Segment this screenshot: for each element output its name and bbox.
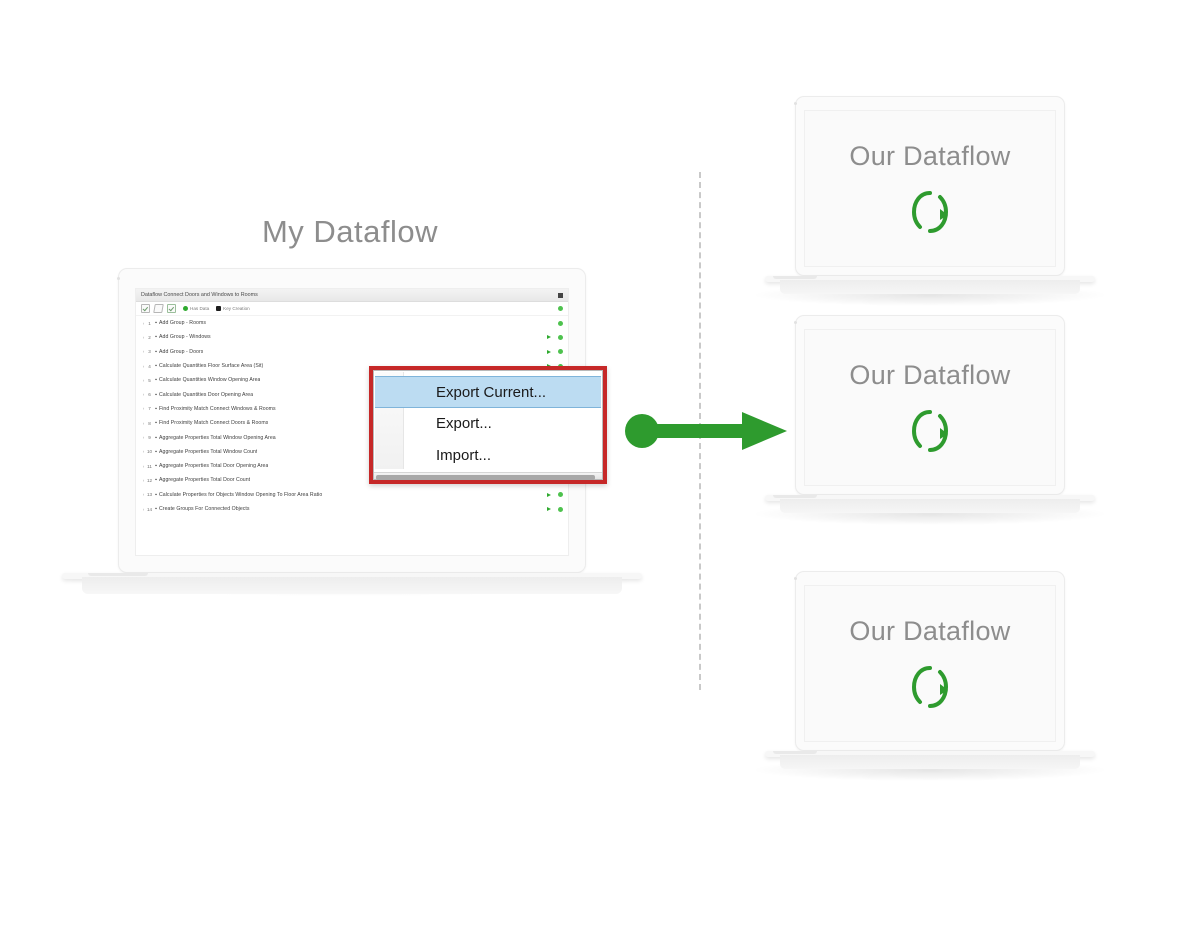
row-label: Aggregate Properties Total Window Count [159, 449, 257, 455]
row-number: 2 [146, 335, 153, 340]
laptop-base [780, 499, 1080, 513]
scrollbar-thumb[interactable] [376, 475, 595, 480]
laptop-base [780, 755, 1080, 769]
edit-icon[interactable] [153, 304, 164, 313]
row-arrow-icon [547, 493, 551, 497]
calendar-icon[interactable] [167, 304, 176, 313]
window-titlebar: Dataflow Connect Doors and Windows to Ro… [136, 289, 568, 302]
toolbar-status [558, 306, 563, 311]
table-row[interactable]: ›1▪Add Group - Rooms [136, 316, 568, 330]
row-arrow-icon [547, 507, 551, 511]
row-label: Create Groups For Connected Objects [159, 506, 250, 512]
row-label: Calculate Quantities Door Opening Area [159, 392, 253, 398]
laptop-camera-icon [794, 577, 797, 580]
our-dataflow-title: Our Dataflow [805, 360, 1055, 391]
menu-item[interactable]: Import... [374, 440, 602, 472]
context-menu[interactable]: Export Current...Export...Import... [373, 370, 603, 480]
laptop-trackpad-notch [88, 573, 148, 576]
checkbox-icon[interactable] [141, 304, 150, 313]
table-row[interactable]: ›3▪Add Group - Doors [136, 345, 568, 359]
context-menu-items: Export Current...Export...Import... [374, 371, 602, 472]
row-arrow-icon [547, 335, 551, 339]
row-label: Find Proximity Match Connect Doors & Roo… [159, 420, 268, 426]
row-arrow-icon [547, 350, 551, 354]
row-number: 8 [146, 421, 153, 426]
row-number: 13 [146, 492, 153, 497]
legend-label-key-creation: Key Creation [223, 306, 250, 311]
row-label: Calculate Properties for Objects Window … [159, 492, 322, 498]
context-menu-scrollbar[interactable] [374, 472, 602, 479]
laptop-trackpad-notch [773, 276, 817, 279]
legend-green-dot-icon [183, 306, 188, 311]
row-number: 9 [146, 435, 153, 440]
row-label: Find Proximity Match Connect Windows & R… [159, 406, 276, 412]
status-dot-icon [558, 306, 563, 311]
row-number: 5 [146, 378, 153, 383]
laptop-camera-icon [794, 102, 797, 105]
laptop-screen: Our Dataflow [804, 110, 1056, 267]
our-dataflow-title: Our Dataflow [805, 616, 1055, 647]
row-number: 12 [146, 478, 153, 483]
row-number: 6 [146, 392, 153, 397]
row-label: Calculate Quantities Window Opening Area [159, 377, 260, 383]
sync-spinner-icon [911, 408, 949, 454]
row-number: 10 [146, 449, 153, 454]
row-status-dot-icon [558, 321, 563, 326]
legend-has-data: Has Data [183, 306, 209, 311]
row-number: 11 [146, 464, 153, 469]
laptop-trackpad-notch [773, 751, 817, 754]
row-status [547, 335, 563, 340]
flow-arrow-connector [622, 408, 792, 454]
window-toolbar: Has Data Key Creation [136, 302, 568, 316]
laptop-camera-icon [794, 321, 797, 324]
laptop-base [780, 280, 1080, 294]
arrow-head-icon [742, 412, 787, 450]
legend-key-creation: Key Creation [216, 306, 250, 311]
row-status [547, 492, 563, 497]
laptop-screen: Our Dataflow [804, 329, 1056, 486]
legend-label-has-data: Has Data [190, 306, 209, 311]
row-status-dot-icon [558, 335, 563, 340]
context-menu-highlight-box: Export Current...Export...Import... [369, 366, 607, 484]
row-label: Aggregate Properties Total Door Count [159, 477, 250, 483]
row-number: 4 [146, 364, 153, 369]
laptop-screen: Our Dataflow [804, 585, 1056, 742]
laptop-base [82, 577, 622, 594]
row-label: Aggregate Properties Total Door Opening … [159, 463, 268, 469]
row-number: 1 [146, 321, 153, 326]
row-label: Add Group - Rooms [159, 320, 206, 326]
window-title: Dataflow Connect Doors and Windows to Ro… [141, 292, 554, 298]
row-number: 7 [146, 406, 153, 411]
our-dataflow-title: Our Dataflow [805, 141, 1055, 172]
row-status-dot-icon [558, 507, 563, 512]
row-label: Add Group - Windows [159, 334, 211, 340]
table-row[interactable]: ›13▪Calculate Properties for Objects Win… [136, 488, 568, 502]
row-status [547, 321, 563, 326]
row-status-dot-icon [558, 492, 563, 497]
row-status [547, 507, 563, 512]
row-status-dot-icon [558, 349, 563, 354]
row-label: Aggregate Properties Total Window Openin… [159, 435, 276, 441]
table-row[interactable]: ›2▪Add Group - Windows [136, 330, 568, 344]
sync-spinner-icon [911, 189, 949, 235]
legend-black-dot-icon [216, 306, 221, 311]
laptop-camera-icon [117, 277, 120, 280]
row-number: 3 [146, 349, 153, 354]
row-status [547, 349, 563, 354]
menu-item[interactable]: Export... [374, 408, 602, 440]
page-title-my-dataflow: My Dataflow [0, 214, 700, 250]
laptop-trackpad-notch [773, 495, 817, 498]
table-row[interactable]: ›14▪Create Groups For Connected Objects [136, 502, 568, 516]
sync-spinner-icon [911, 664, 949, 710]
row-number: 14 [146, 507, 153, 512]
menu-item[interactable]: Export Current... [375, 376, 601, 408]
row-label: Add Group - Doors [159, 349, 203, 355]
arrow-shaft [642, 424, 749, 438]
row-label: Calculate Quantities Floor Surface Area … [159, 363, 263, 369]
close-icon[interactable] [558, 293, 563, 298]
